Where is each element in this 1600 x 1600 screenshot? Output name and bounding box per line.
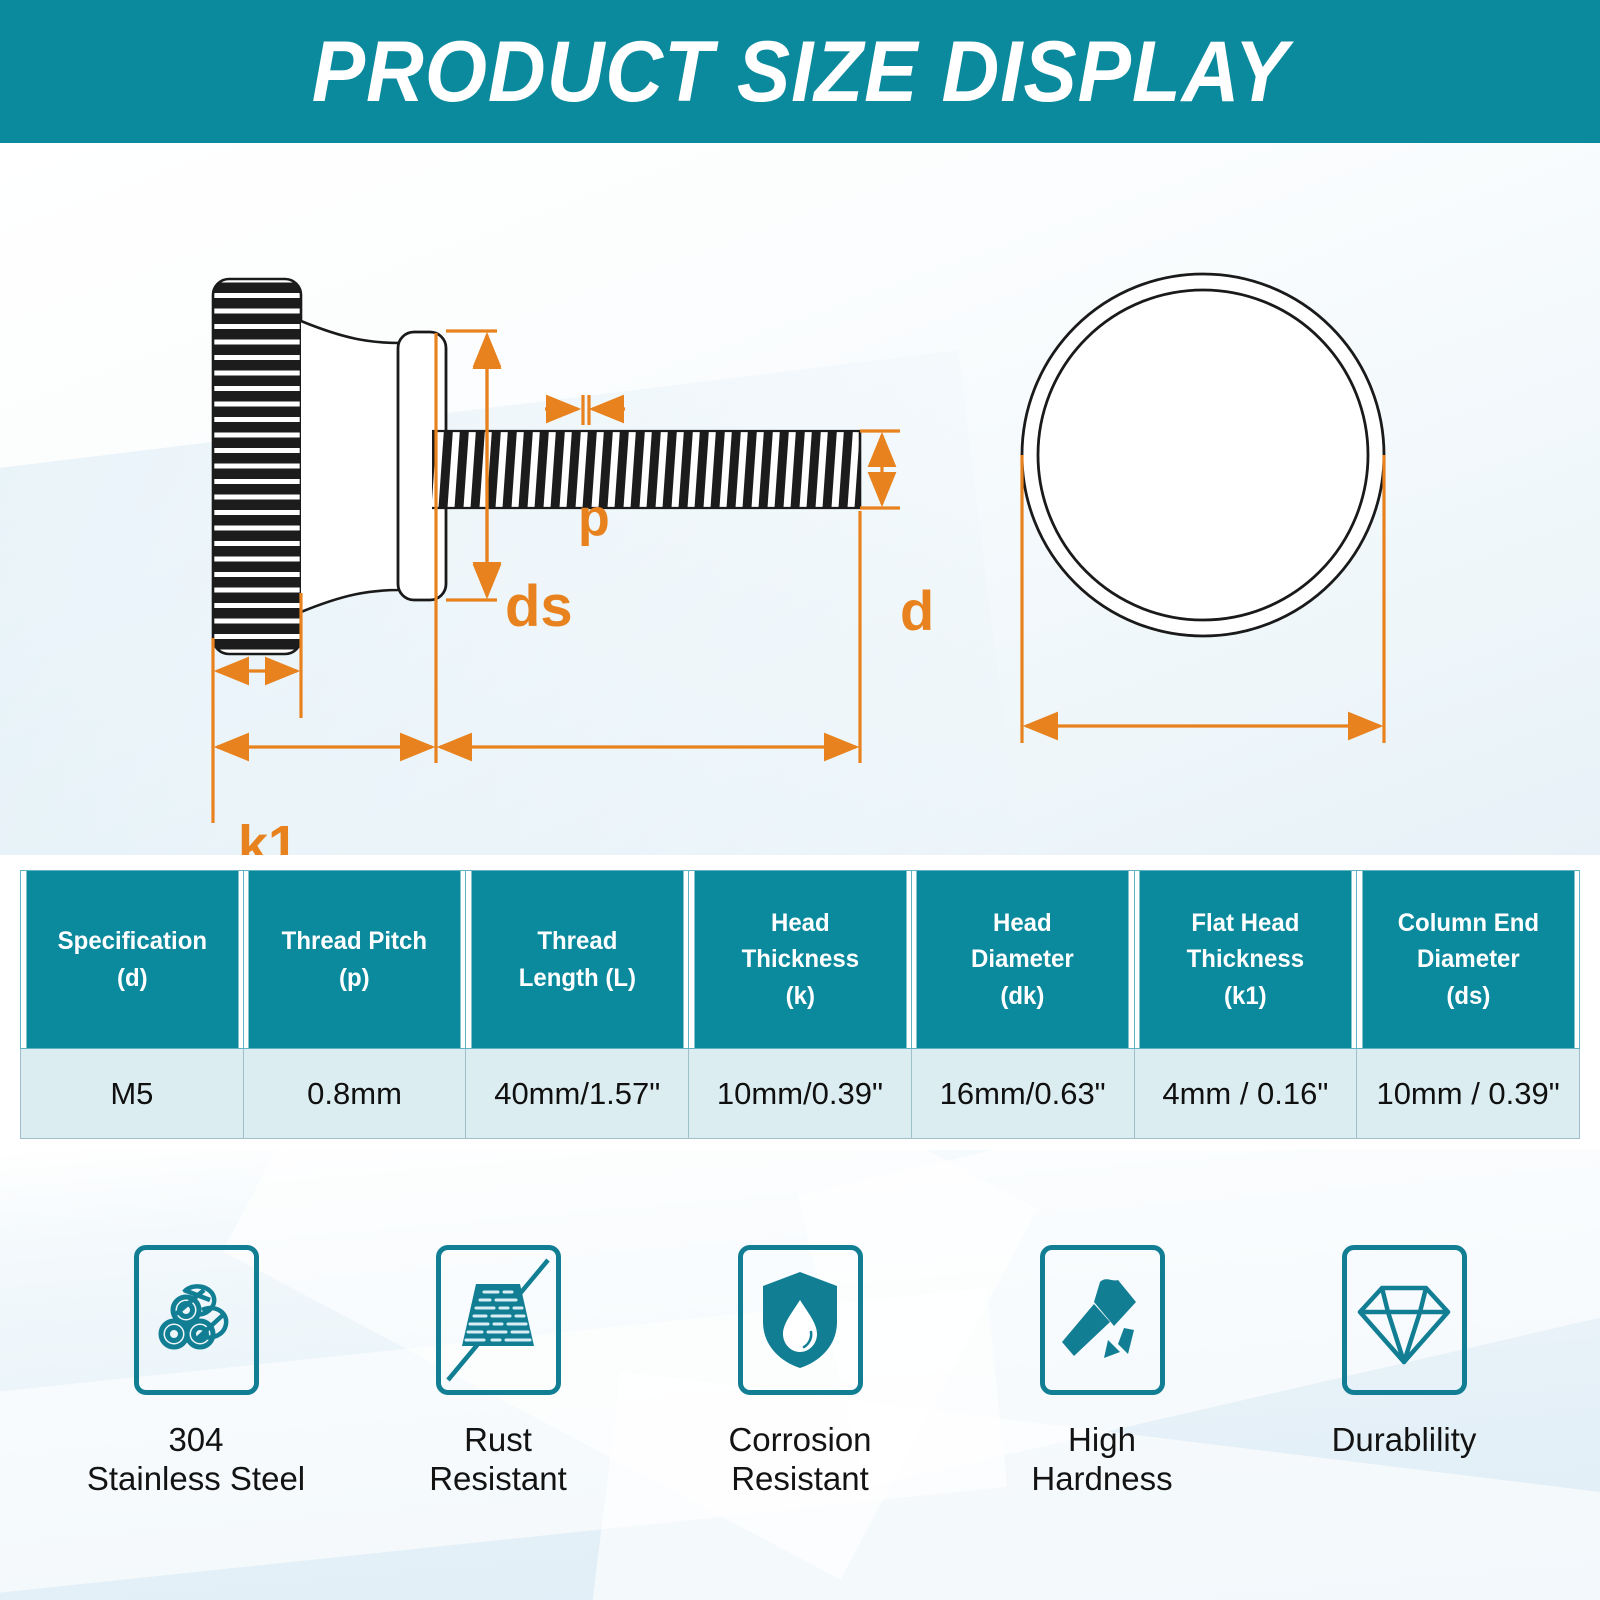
steel-pipes-icon [134,1245,259,1395]
shield-droplet-icon [738,1245,863,1395]
dimension-label-ds: ds [505,578,573,636]
table-header-cell-1: Thread Pitch (p) [248,871,462,1049]
feature-item-stainless-steel: 304 Stainless Steel [61,1245,331,1499]
table-header-cell-0: Specification (d) [25,871,239,1049]
feature-item-corrosion-resistant: Corrosion Resistant [665,1245,935,1499]
feature-item-high-hardness: High Hardness [967,1245,1237,1499]
feature-row: 304 Stainless Steel [0,1150,1600,1600]
knurled-head [213,279,301,654]
table-header-cell-6: Column End Diameter (ds) [1361,871,1575,1049]
rust-resistant-icon [436,1245,561,1395]
dimension-label-k1: k1 [238,818,298,855]
diamond-icon [1342,1245,1467,1395]
header-banner: PRODUCT SIZE DISPLAY [0,0,1600,143]
features-strip: 304 Stainless Steel [0,1150,1600,1600]
head-end-view [1022,274,1384,636]
table-header-cell-5: Flat Head Thickness (k1) [1138,871,1352,1049]
specification-table-wrapper: Specification (d)Thread Pitch (p)Thread … [20,870,1580,1139]
table-row: M50.8mm40mm/1.57"10mm/0.39"16mm/0.63"4mm… [21,1049,1580,1139]
head-neck [301,321,400,612]
table-cell-0: M5 [21,1049,244,1139]
table-header-cell-4: Head Diameter (dk) [916,871,1130,1049]
table-cell-4: 16mm/0.63" [911,1049,1134,1139]
table-header-cell-3: Head Thickness (k) [693,871,907,1049]
specification-table: Specification (d)Thread Pitch (p)Thread … [20,870,1580,1139]
feature-label: 304 Stainless Steel [87,1421,305,1499]
table-cell-6: 10mm / 0.39" [1357,1049,1580,1139]
feature-label: Corrosion Resistant [728,1421,871,1499]
feature-label: Durablility [1332,1421,1477,1460]
feature-label: High Hardness [1031,1421,1172,1499]
dimension-label-d: d [900,583,934,639]
feature-item-rust-resistant: Rust Resistant [363,1245,633,1499]
table-cell-2: 40mm/1.57" [466,1049,689,1139]
product-diagram-area: p ds d k1 k L dk [0,143,1600,855]
feature-label: Rust Resistant [429,1421,567,1499]
table-cell-3: 10mm/0.39" [689,1049,912,1139]
threaded-shaft [432,431,860,508]
page-title: PRODUCT SIZE DISPLAY [312,29,1289,115]
table-cell-1: 0.8mm [243,1049,466,1139]
table-header-row: Specification (d)Thread Pitch (p)Thread … [21,871,1580,1049]
feature-item-durability: Durablility [1269,1245,1539,1460]
hammer-icon [1040,1245,1165,1395]
technical-drawing-svg [0,143,1600,855]
dimension-label-p: p [578,492,610,544]
table-cell-5: 4mm / 0.16" [1134,1049,1357,1139]
table-header-cell-2: Thread Length (L) [470,871,684,1049]
